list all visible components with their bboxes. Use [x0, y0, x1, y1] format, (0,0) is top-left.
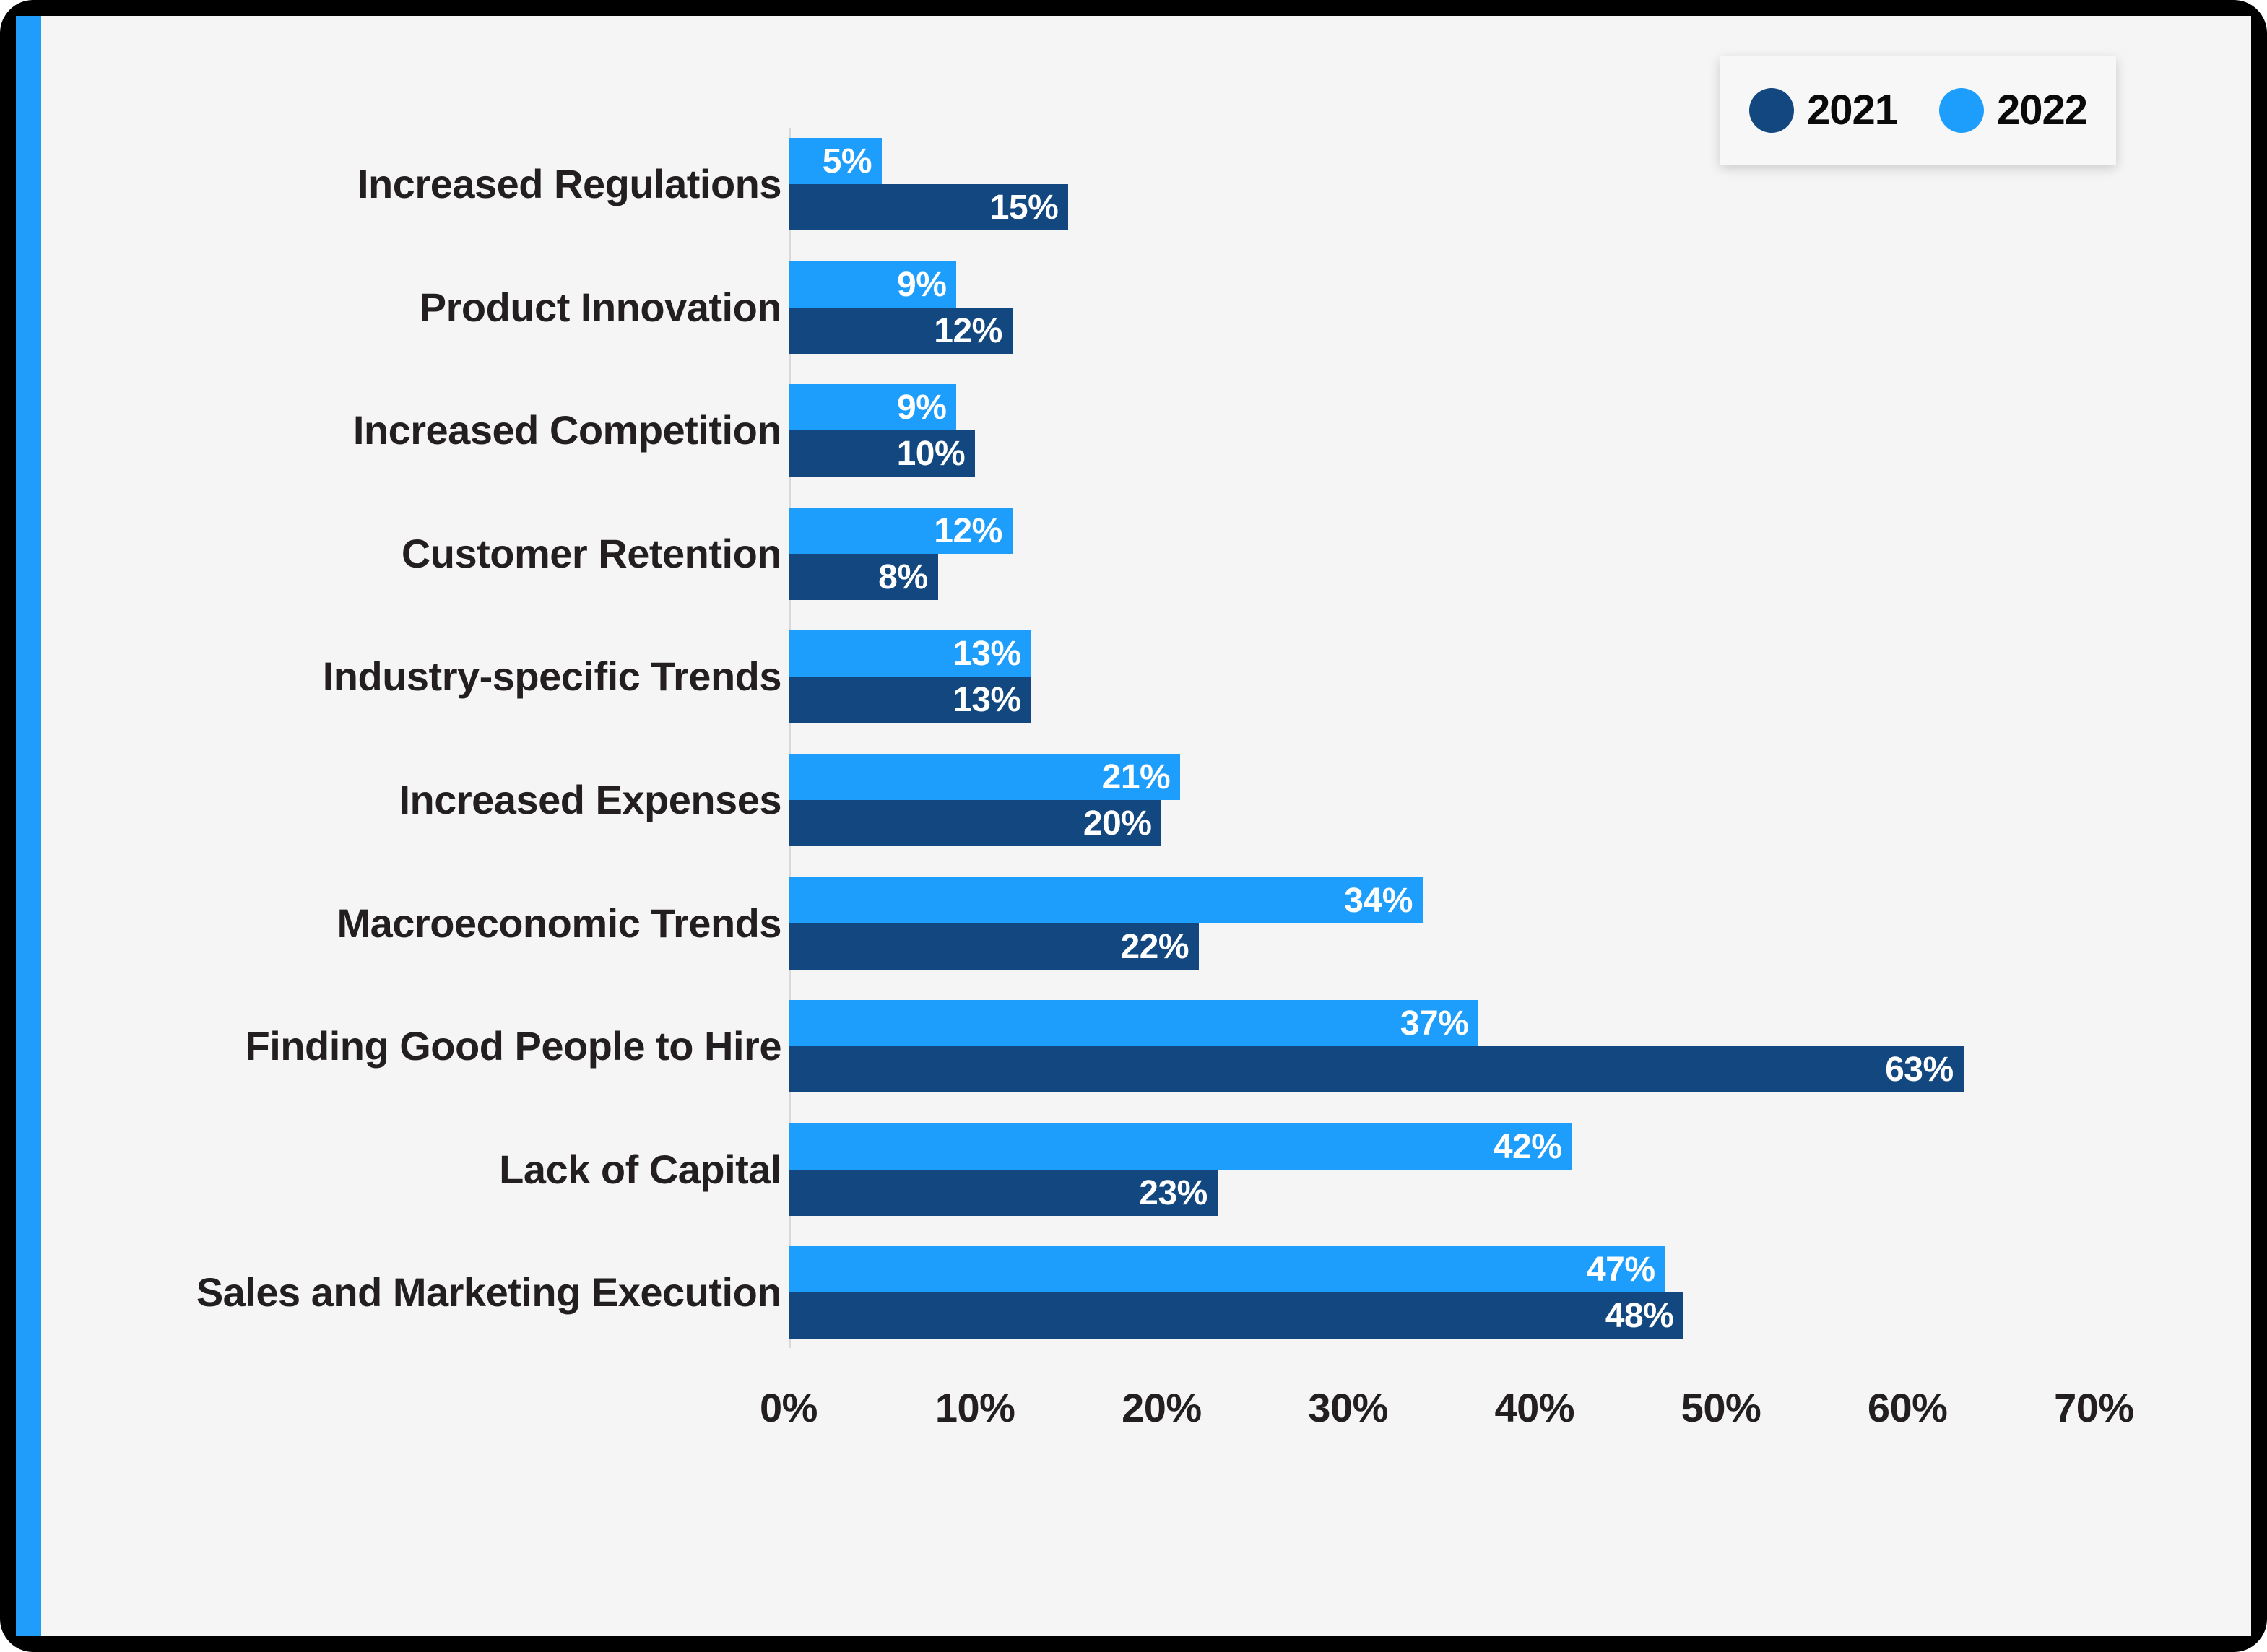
- bar-2022[interactable]: 12%: [789, 508, 1013, 554]
- category-label: Finding Good People to Hire: [59, 999, 781, 1094]
- category-label: Increased Competition: [59, 383, 781, 478]
- category-label: Lack of Capital: [59, 1122, 781, 1217]
- bar-2022[interactable]: 5%: [789, 138, 882, 184]
- bar-value-label: 10%: [897, 430, 966, 477]
- legend-label: 2022: [1997, 90, 2087, 131]
- category-label: Increased Regulations: [59, 136, 781, 232]
- bar-value-label: 8%: [878, 554, 927, 600]
- bar-value-label: 22%: [1120, 923, 1189, 970]
- bar-2022[interactable]: 21%: [789, 754, 1180, 800]
- bar-2022[interactable]: 9%: [789, 261, 956, 308]
- bar-2022[interactable]: 9%: [789, 384, 956, 430]
- bar-value-label: 13%: [953, 677, 1021, 723]
- category-label: Product Innovation: [59, 260, 781, 355]
- x-axis-tick: 0%: [695, 1384, 883, 1431]
- bar-2021[interactable]: 23%: [789, 1170, 1218, 1216]
- category-label: Industry-specific Trends: [59, 629, 781, 724]
- bar-2022[interactable]: 34%: [789, 877, 1423, 923]
- category-label: Increased Expenses: [59, 752, 781, 848]
- bar-value-label: 13%: [953, 630, 1021, 677]
- bar-2021[interactable]: 20%: [789, 800, 1161, 846]
- bar-value-label: 42%: [1494, 1123, 1562, 1170]
- x-axis-tick-labels: 0%10%20%30%40%50%60%70%: [16, 1384, 2251, 1449]
- category-label: Sales and Marketing Execution: [59, 1245, 781, 1340]
- chart-category-row: Industry-specific Trends13%13%: [16, 629, 2251, 724]
- chart-category-row: Customer Retention12%8%: [16, 506, 2251, 601]
- chart-category-row: Product Innovation9%12%: [16, 260, 2251, 355]
- x-axis-tick: 60%: [1813, 1384, 2001, 1431]
- x-axis-tick: 50%: [1627, 1384, 1815, 1431]
- bar-value-label: 21%: [1102, 754, 1171, 800]
- bar-2021[interactable]: 8%: [789, 554, 938, 600]
- chart-category-row: Increased Expenses21%20%: [16, 752, 2251, 848]
- category-label: Customer Retention: [59, 506, 781, 601]
- bar-2022[interactable]: 13%: [789, 630, 1031, 677]
- bar-2022[interactable]: 47%: [789, 1246, 1665, 1292]
- legend-item-2022[interactable]: 2022: [1939, 88, 2087, 133]
- chart-category-row: Finding Good People to Hire37%63%: [16, 999, 2251, 1094]
- circle-icon: [1749, 88, 1794, 133]
- bar-2021[interactable]: 10%: [789, 430, 975, 477]
- bar-value-label: 5%: [823, 138, 872, 184]
- bar-value-label: 34%: [1344, 877, 1413, 923]
- bar-2021[interactable]: 12%: [789, 308, 1013, 354]
- bar-2021[interactable]: 63%: [789, 1046, 1964, 1092]
- bar-value-label: 63%: [1885, 1046, 1954, 1092]
- chart-category-row: Lack of Capital42%23%: [16, 1122, 2251, 1217]
- bar-value-label: 48%: [1605, 1292, 1674, 1339]
- bar-2021[interactable]: 13%: [789, 677, 1031, 723]
- bar-value-label: 47%: [1587, 1246, 1655, 1292]
- bar-value-label: 12%: [934, 508, 1002, 554]
- bar-value-label: 37%: [1400, 1000, 1469, 1046]
- x-axis-tick: 30%: [1254, 1384, 1442, 1431]
- bar-value-label: 9%: [897, 261, 946, 308]
- x-axis-tick: 40%: [1441, 1384, 1629, 1431]
- bar-value-label: 23%: [1139, 1170, 1208, 1216]
- bar-2021[interactable]: 15%: [789, 184, 1068, 230]
- chart-legend: 20212022: [1720, 56, 2116, 165]
- bar-value-label: 9%: [897, 384, 946, 430]
- category-label: Macroeconomic Trends: [59, 876, 781, 971]
- chart-card: Increased Regulations5%15%Product Innova…: [16, 16, 2251, 1636]
- bar-value-label: 12%: [934, 308, 1002, 354]
- chart-category-row: Macroeconomic Trends34%22%: [16, 876, 2251, 971]
- bar-value-label: 15%: [990, 184, 1059, 230]
- circle-icon: [1939, 88, 1984, 133]
- x-axis-tick: 70%: [2000, 1384, 2188, 1431]
- legend-label: 2021: [1807, 90, 1897, 131]
- bar-2022[interactable]: 42%: [789, 1123, 1572, 1170]
- bar-2022[interactable]: 37%: [789, 1000, 1478, 1046]
- bar-2021[interactable]: 48%: [789, 1292, 1683, 1339]
- chart-category-row: Increased Competition9%10%: [16, 383, 2251, 478]
- legend-item-2021[interactable]: 2021: [1749, 88, 1897, 133]
- x-axis-tick: 10%: [881, 1384, 1069, 1431]
- x-axis-tick: 20%: [1067, 1384, 1255, 1431]
- bar-value-label: 20%: [1083, 800, 1152, 846]
- outer-frame: Increased Regulations5%15%Product Innova…: [0, 0, 2267, 1652]
- chart-category-row: Sales and Marketing Execution47%48%: [16, 1245, 2251, 1340]
- horizontal-bar-chart: Increased Regulations5%15%Product Innova…: [16, 16, 2251, 1636]
- bar-2021[interactable]: 22%: [789, 923, 1199, 970]
